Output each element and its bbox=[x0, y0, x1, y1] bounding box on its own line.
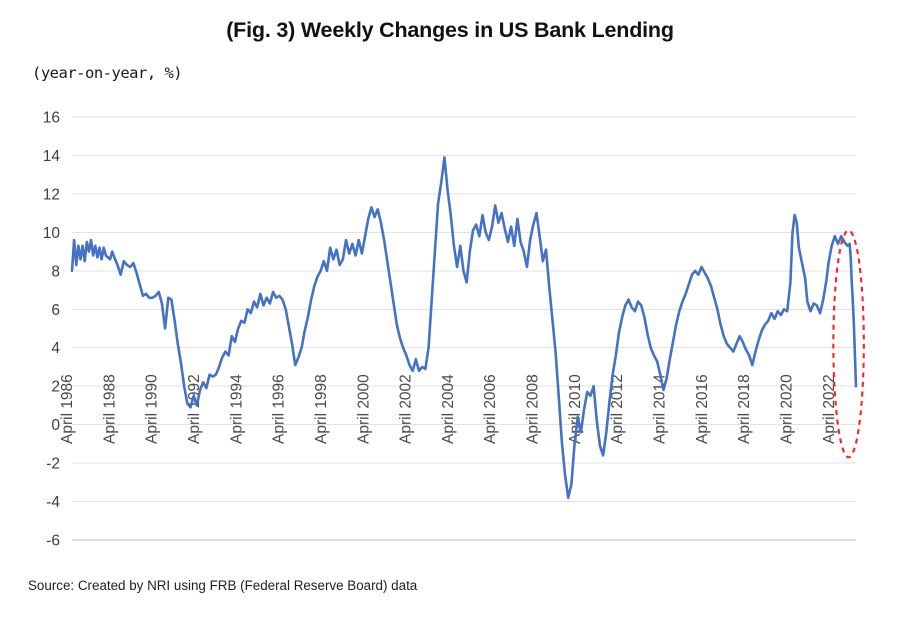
x-tick-label: April 1992 bbox=[186, 374, 203, 444]
y-tick-label: 12 bbox=[43, 186, 60, 203]
x-tick-label: April 2006 bbox=[482, 374, 499, 444]
y-tick-label: 16 bbox=[43, 110, 60, 127]
x-tick-label: April 1990 bbox=[144, 374, 161, 444]
y-tick-label: -2 bbox=[46, 456, 60, 473]
highlight-ellipse-annotation bbox=[833, 230, 863, 457]
gridlines-group bbox=[72, 117, 856, 540]
y-tick-label: 10 bbox=[43, 225, 61, 242]
data-series-group bbox=[72, 157, 856, 497]
x-tick-label: April 2004 bbox=[440, 374, 457, 444]
x-tick-label: April 1996 bbox=[271, 374, 288, 444]
x-tick-label: April 1994 bbox=[228, 374, 245, 444]
y-tick-label: 4 bbox=[51, 340, 60, 357]
y-axis-tick-labels: 1614121086420-2-4-6 bbox=[43, 110, 61, 550]
y-tick-label: 6 bbox=[51, 302, 60, 319]
x-axis-tick-labels: April 1986April 1988April 1990April 1992… bbox=[59, 374, 838, 444]
y-tick-label: -4 bbox=[46, 494, 60, 511]
series-line bbox=[72, 157, 856, 497]
x-tick-label: April 2018 bbox=[736, 374, 753, 444]
y-tick-label: 8 bbox=[51, 263, 60, 280]
annotation-group bbox=[833, 230, 863, 457]
x-tick-label: April 2002 bbox=[398, 374, 415, 444]
x-tick-label: April 2020 bbox=[778, 374, 795, 444]
x-tick-label: April 2008 bbox=[525, 374, 542, 444]
x-tick-label: April 1998 bbox=[313, 374, 330, 444]
chart-plot: 1614121086420-2-4-6 April 1986April 1988… bbox=[0, 0, 900, 619]
figure-root: (Fig. 3) Weekly Changes in US Bank Lendi… bbox=[0, 0, 900, 619]
x-tick-label: April 2000 bbox=[355, 374, 372, 444]
source-note: Source: Created by NRI using FRB (Federa… bbox=[28, 578, 417, 593]
x-tick-label: April 1986 bbox=[59, 374, 76, 444]
x-tick-label: April 2016 bbox=[694, 374, 711, 444]
y-tick-label: -6 bbox=[46, 533, 60, 550]
y-tick-label: 14 bbox=[43, 148, 61, 165]
x-tick-label: April 1988 bbox=[101, 374, 118, 444]
